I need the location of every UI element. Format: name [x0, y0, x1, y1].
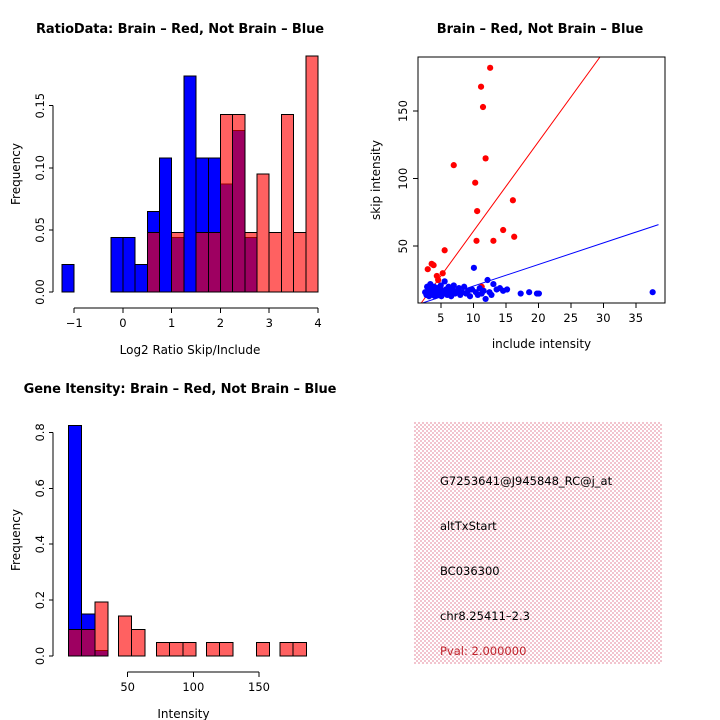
- scatter-point: [472, 180, 478, 186]
- x-axis-tick-label: 100: [182, 680, 204, 694]
- histogram-bar-brain: [118, 616, 131, 656]
- gene-histogram-title: Gene Itensity: Brain – Red, Not Brain – …: [0, 382, 360, 397]
- scatter-point: [474, 208, 480, 214]
- annotation-panel: G7253641@J945848_RC@j_at altTxStart BC03…: [360, 360, 720, 720]
- scatter-plot: 50100150skip intensity5101520253035inclu…: [360, 0, 720, 360]
- scatter-point: [440, 270, 446, 276]
- histogram-bar-brain: [269, 232, 281, 292]
- scatter-point: [483, 296, 489, 302]
- annotation-box: G7253641@J945848_RC@j_at altTxStart BC03…: [414, 422, 662, 664]
- x-axis-tick-label: 20: [531, 311, 546, 325]
- scatter-points-group: [421, 57, 658, 303]
- y-axis-tick-label: 0.4: [33, 535, 47, 553]
- scatter-point: [473, 238, 479, 244]
- histogram-bar-not-brain: [62, 265, 74, 292]
- x-axis-tick-label: 1: [168, 316, 175, 330]
- histogram-bar-brain: [280, 643, 293, 656]
- scatter-point: [504, 286, 510, 292]
- x-axis-tick-label: 35: [628, 311, 643, 325]
- histogram-bar-brain: [132, 629, 145, 656]
- histogram-bar-brain: [220, 114, 232, 292]
- x-axis-title: Intensity: [157, 707, 209, 720]
- scatter-point: [490, 281, 496, 287]
- y-axis-tick-label: 0.05: [33, 217, 47, 243]
- y-axis-tick-label: 0.10: [33, 155, 47, 181]
- scatter-point: [487, 65, 493, 71]
- x-axis-tick-label: 5: [437, 311, 444, 325]
- scatter-point: [480, 104, 486, 110]
- histogram-bar-brain: [172, 232, 184, 292]
- histogram-bar-not-brain: [160, 158, 172, 292]
- histogram-bar-brain: [220, 643, 233, 656]
- x-axis-title: include intensity: [492, 337, 591, 351]
- y-axis-title: skip intensity: [369, 140, 383, 220]
- histogram-bar-brain: [233, 114, 245, 292]
- scatter-point: [650, 289, 656, 295]
- x-axis-tick-label: 150: [248, 680, 270, 694]
- y-axis-tick-label: 0.15: [33, 93, 47, 119]
- scatter-point: [526, 289, 532, 295]
- histogram-bar-brain: [170, 643, 183, 656]
- x-axis-tick-label: 30: [596, 311, 611, 325]
- histogram-bar-brain: [306, 56, 318, 292]
- x-axis-tick-label: 25: [563, 311, 578, 325]
- histogram-bar-brain: [196, 232, 208, 292]
- scatter-point: [435, 277, 441, 283]
- scatter-point: [518, 290, 524, 296]
- scatter-title: Brain – Red, Not Brain – Blue: [360, 22, 720, 37]
- probe-id-label: G7253641@J945848_RC@j_at: [440, 474, 612, 488]
- regression-line: [421, 57, 600, 303]
- event-type-label: altTxStart: [440, 519, 497, 533]
- y-axis-title: Frequency: [9, 143, 23, 205]
- histogram-bar-brain: [257, 174, 269, 292]
- y-axis-title: Frequency: [9, 509, 23, 571]
- y-axis-tick-label: 150: [396, 100, 410, 122]
- pvalue-label: Pval: 2.000000: [440, 644, 526, 658]
- x-axis-title: Log2 Ratio Skip/Include: [120, 343, 261, 357]
- histogram-bar-not-brain: [135, 265, 147, 292]
- scatter-point: [451, 162, 457, 168]
- scatter-point: [431, 262, 437, 268]
- scatter-point: [490, 238, 496, 244]
- scatter-point: [484, 277, 490, 283]
- x-axis-tick-label: 0: [119, 316, 126, 330]
- histogram-bar-not-brain: [184, 76, 196, 292]
- scatter-point: [467, 293, 473, 299]
- scatter-panel: Brain – Red, Not Brain – Blue 50100150sk…: [360, 0, 720, 360]
- histogram-bar-brain: [95, 602, 108, 656]
- histogram-bar-brain: [157, 643, 170, 656]
- y-axis-tick-label: 0.0: [33, 647, 47, 665]
- x-axis-tick-label: 10: [466, 311, 481, 325]
- y-axis-tick-label: 100: [396, 168, 410, 190]
- histogram-bar-brain: [294, 232, 306, 292]
- histogram-bar-not-brain: [69, 425, 82, 656]
- scatter-point: [478, 84, 484, 90]
- gene-histogram-plot: 0.00.20.40.60.8Frequency50100150Intensit…: [0, 360, 360, 720]
- histogram-bar-brain: [69, 629, 82, 656]
- scatter-point: [471, 265, 477, 271]
- scatter-point: [536, 290, 542, 296]
- y-axis-tick-label: 0.00: [33, 279, 47, 305]
- scatter-point: [481, 288, 487, 294]
- histogram-bar-brain: [147, 232, 159, 292]
- ratio-histogram-panel: RatioData: Brain – Red, Not Brain – Blue…: [0, 0, 360, 360]
- histogram-bar-brain: [256, 643, 269, 656]
- scatter-point: [500, 227, 506, 233]
- gene-histogram-panel: Gene Itensity: Brain – Red, Not Brain – …: [0, 360, 360, 720]
- histogram-bar-brain: [206, 643, 219, 656]
- histogram-bar-brain: [293, 643, 306, 656]
- scatter-point: [425, 266, 431, 272]
- histogram-bar-not-brain: [111, 237, 123, 292]
- scatter-point: [442, 278, 448, 284]
- y-axis-tick-label: 50: [396, 239, 410, 254]
- x-axis-tick-label: 3: [266, 316, 273, 330]
- locus-label: chr8.25411–2.3: [440, 609, 530, 623]
- x-axis-tick-label: −1: [66, 316, 83, 330]
- histogram-bar-brain: [245, 232, 257, 292]
- accession-label: BC036300: [440, 564, 500, 578]
- plot-frame: [418, 57, 665, 303]
- x-axis-tick-label: 15: [498, 311, 513, 325]
- scatter-point: [510, 197, 516, 203]
- histogram-bar-brain: [281, 114, 293, 292]
- scatter-point: [483, 155, 489, 161]
- scatter-point: [488, 292, 494, 298]
- y-axis-tick-label: 0.8: [33, 423, 47, 441]
- histogram-bar-not-brain: [123, 237, 135, 292]
- x-axis-tick-label: 4: [314, 316, 321, 330]
- ratio-histogram-title: RatioData: Brain – Red, Not Brain – Blue: [0, 22, 360, 37]
- histogram-bar-brain: [183, 643, 196, 656]
- histogram-bar-brain: [208, 232, 220, 292]
- scatter-point: [442, 247, 448, 253]
- histogram-bar-brain: [82, 629, 95, 656]
- ratio-histogram-plot: 0.000.050.100.15Frequency−101234Log2 Rat…: [0, 0, 360, 360]
- y-axis-tick-label: 0.6: [33, 479, 47, 497]
- x-axis-tick-label: 50: [120, 680, 135, 694]
- x-axis-tick-label: 2: [217, 316, 224, 330]
- y-axis-tick-label: 0.2: [33, 591, 47, 609]
- scatter-point: [511, 234, 517, 240]
